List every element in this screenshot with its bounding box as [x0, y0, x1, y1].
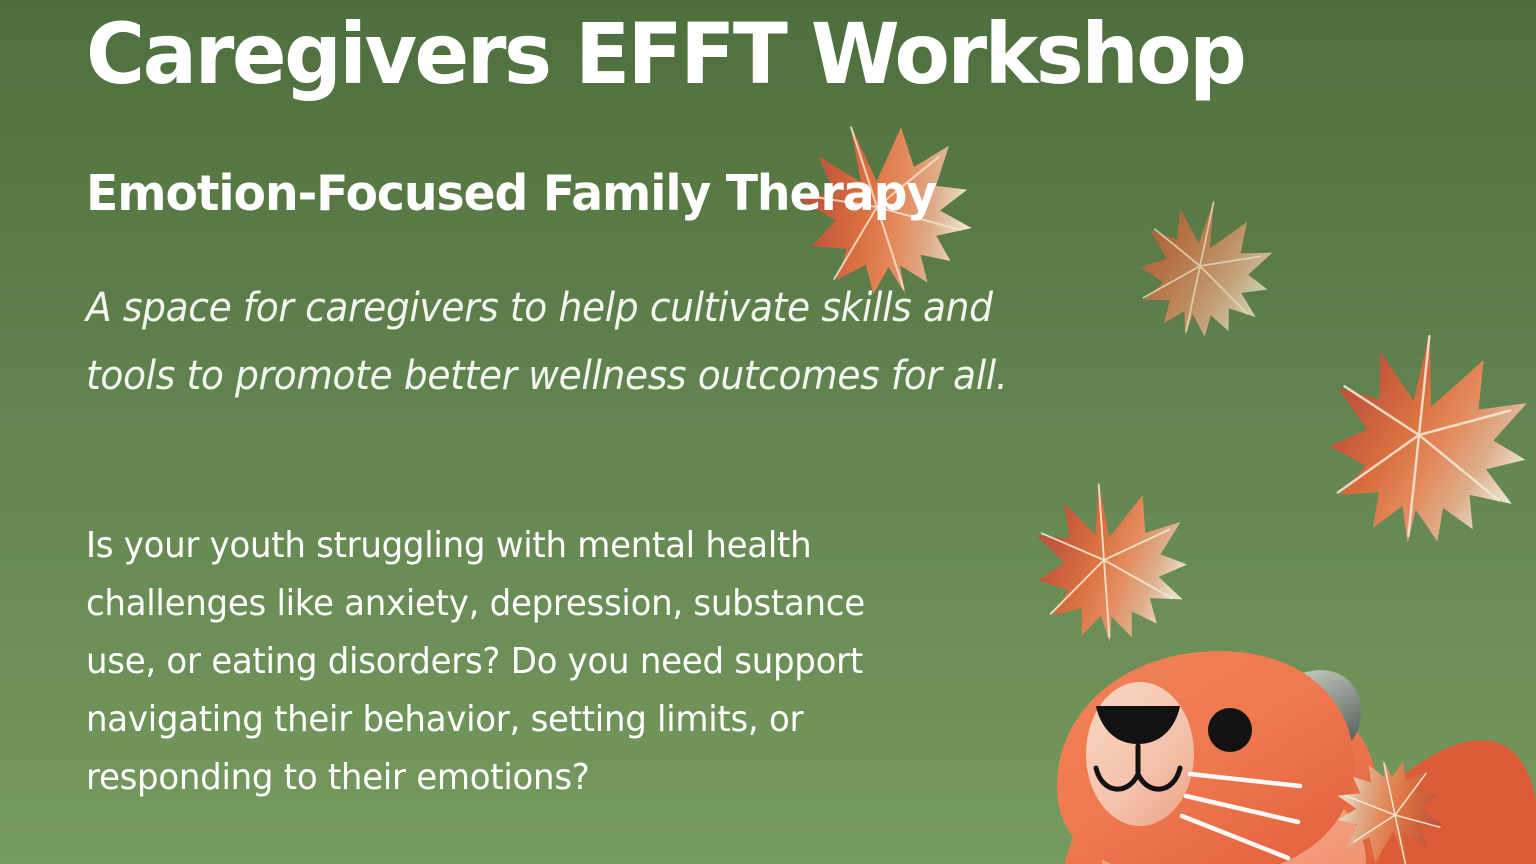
poster-canvas: Caregivers EFFT Workshop Emotion-Focused… — [0, 0, 1536, 864]
lede-paragraph: A space for caregivers to help cultivate… — [86, 274, 1035, 410]
page-subtitle: Emotion-Focused Family Therapy — [86, 168, 936, 219]
page-title: Caregivers EFFT Workshop — [86, 12, 1244, 98]
body-paragraph: Is your youth struggling with mental hea… — [86, 517, 918, 807]
poster-text-content: Caregivers EFFT Workshop Emotion-Focused… — [86, 0, 1416, 864]
